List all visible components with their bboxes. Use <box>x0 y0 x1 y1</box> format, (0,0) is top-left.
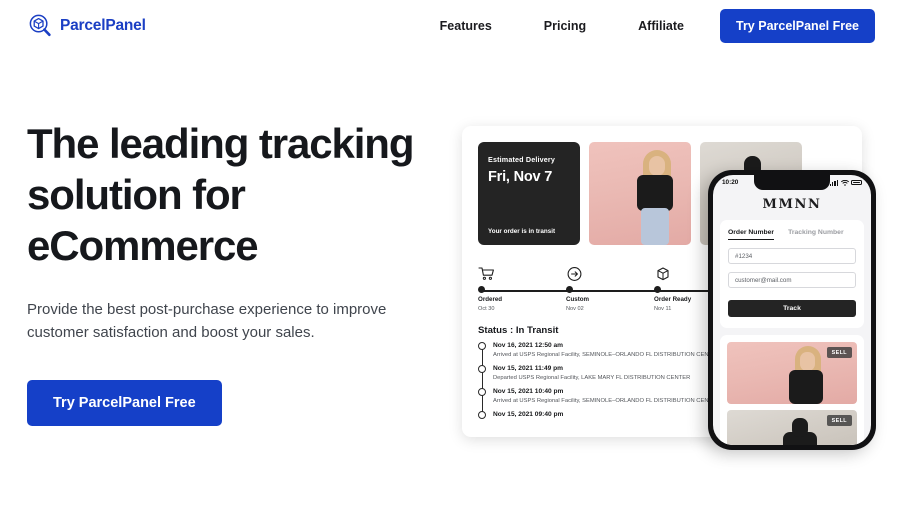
hero-illustration: Estimated Delivery Fri, Nov 7 Your order… <box>462 126 882 437</box>
product-photo-woman-pink-wall <box>589 142 691 245</box>
lookup-tabs: Order Number Tracking Number <box>728 229 856 240</box>
tab-order-number[interactable]: Order Number <box>728 229 774 240</box>
timeline-step-custom: Custom Nov 02 <box>566 263 654 282</box>
email-input[interactable]: customer@mail.com <box>728 272 856 288</box>
main-nav: Features Pricing Affiliate Try ParcelPan… <box>440 9 875 43</box>
tracking-form-panel: Order Number Tracking Number #1234 custo… <box>720 220 864 328</box>
timeline-step-label: Custom <box>566 296 589 303</box>
phone-screen: 10:20 MMNN Order Number <box>713 175 871 445</box>
magnifier-box-logo-icon <box>27 13 53 39</box>
event-marker-icon <box>478 342 486 350</box>
timeline-step-ordered: Ordered Oct 30 <box>478 263 566 282</box>
timeline-step-date: Nov 11 <box>654 306 671 312</box>
hero-copy: The leading tracking solution for eComme… <box>27 118 447 426</box>
nav-item-affiliate[interactable]: Affiliate <box>638 19 684 33</box>
phone-notch <box>754 175 830 190</box>
product-card[interactable]: SELL <box>727 342 857 404</box>
sell-badge: SELL <box>827 347 852 358</box>
sell-badge: SELL <box>827 415 852 426</box>
page-title: The leading tracking solution for eComme… <box>27 118 447 271</box>
site-header: ParcelPanel Features Pricing Affiliate T… <box>0 0 900 52</box>
timeline-step-label: Ordered <box>478 296 502 303</box>
hero-cta-button[interactable]: Try ParcelPanel Free <box>27 380 222 426</box>
event-marker-icon <box>478 411 486 419</box>
event-marker-icon <box>478 388 486 396</box>
hero-subtitle: Provide the best post-purchase experienc… <box>27 298 442 344</box>
signal-bars-icon <box>830 180 838 186</box>
estimated-delivery-label: Estimated Delivery <box>488 155 570 164</box>
phone-mockup: 10:20 MMNN Order Number <box>708 170 876 450</box>
brand-name: ParcelPanel <box>60 17 146 35</box>
wifi-icon <box>841 180 849 186</box>
tab-tracking-number[interactable]: Tracking Number <box>788 229 844 240</box>
shop-name: MMNN <box>713 197 871 212</box>
brand-logo-link[interactable]: ParcelPanel <box>27 13 146 39</box>
event-rail <box>482 346 483 418</box>
product-card[interactable]: SELL <box>727 410 857 445</box>
estimated-delivery-note: Your order is in transit <box>488 228 570 235</box>
nav-item-features[interactable]: Features <box>440 19 492 33</box>
shopping-cart-icon <box>478 263 566 282</box>
timeline-step-date: Nov 02 <box>566 306 584 312</box>
header-cta-button[interactable]: Try ParcelPanel Free <box>720 9 875 43</box>
order-number-input[interactable]: #1234 <box>728 248 856 264</box>
status-bar-time: 10:20 <box>722 179 738 186</box>
estimated-delivery-card: Estimated Delivery Fri, Nov 7 Your order… <box>478 142 580 245</box>
event-marker-icon <box>478 365 486 373</box>
arrow-circle-icon <box>566 263 654 282</box>
product-recommendations: SELL SELL <box>720 335 864 445</box>
landing-page: ParcelPanel Features Pricing Affiliate T… <box>0 0 900 507</box>
timeline-step-date: Oct 30 <box>478 306 494 312</box>
nav-item-pricing[interactable]: Pricing <box>544 19 586 33</box>
estimated-delivery-date: Fri, Nov 7 <box>488 169 570 185</box>
battery-icon <box>851 180 862 186</box>
timeline-step-label: Order Ready <box>654 296 691 303</box>
track-button[interactable]: Track <box>728 300 856 317</box>
